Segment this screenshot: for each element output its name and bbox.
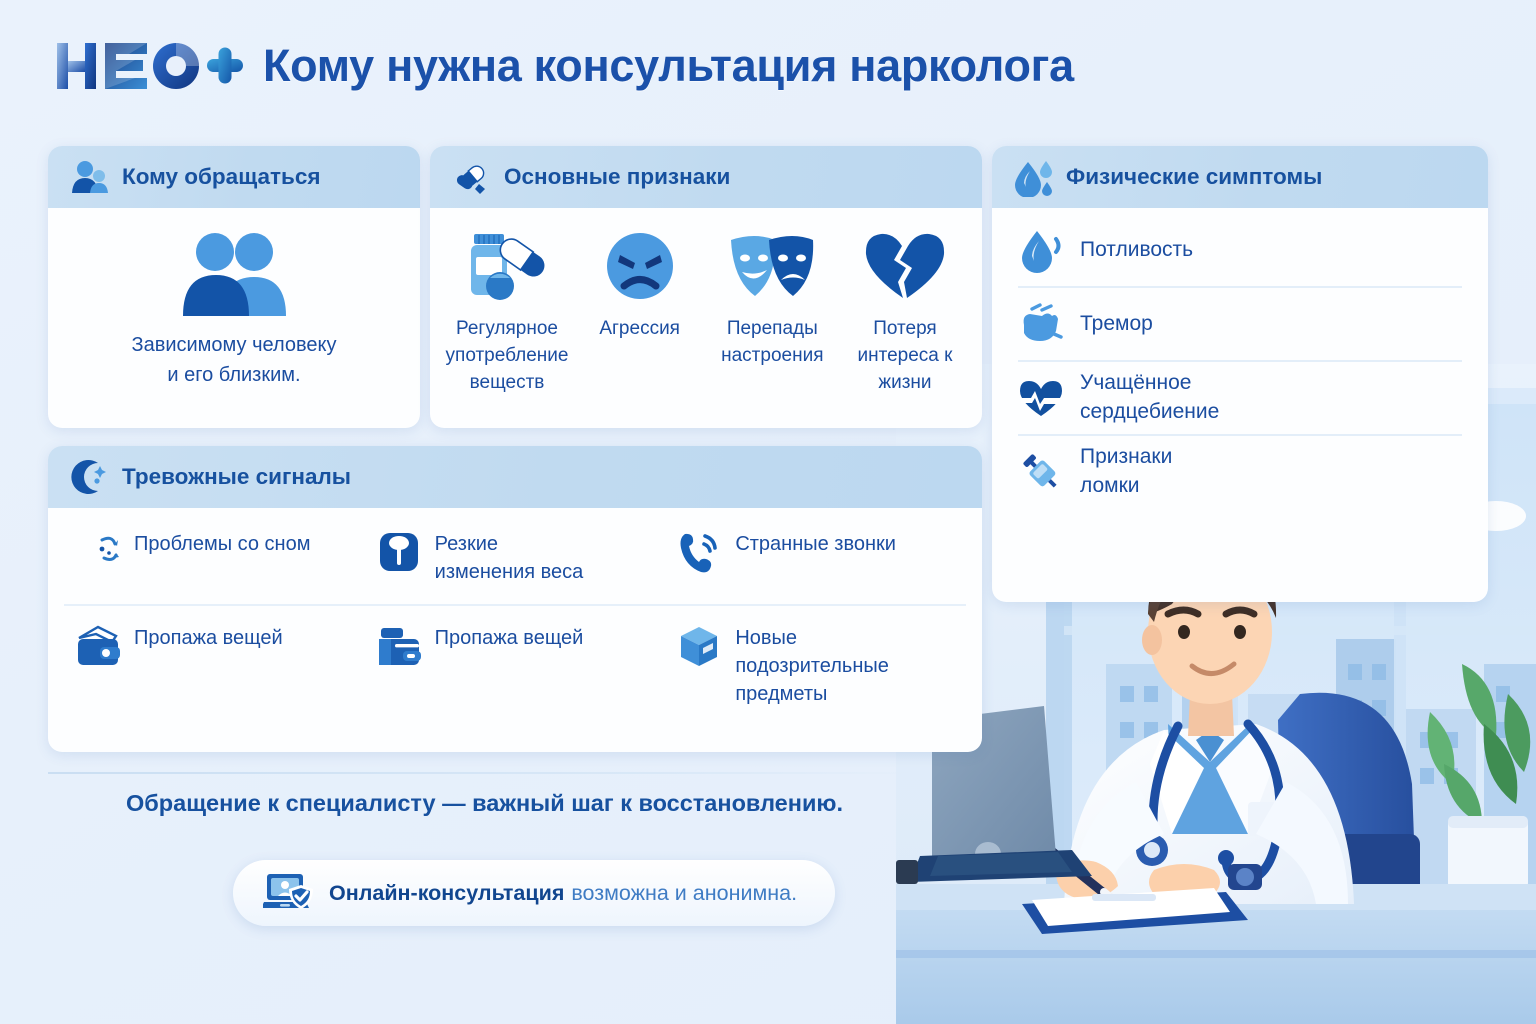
card-who-title: Кому обращаться xyxy=(122,164,320,190)
alert-label: Странные звонки xyxy=(735,526,896,558)
wallet-closed-icon xyxy=(375,622,423,670)
header: Кому нужна консультация нарколога xyxy=(0,0,1536,132)
footer-note: Обращение к специалисту — важный шаг к в… xyxy=(126,790,843,817)
pill-bottle-icon xyxy=(460,226,554,306)
two-people-icon xyxy=(70,157,110,197)
card-phys-body: Потливость Тремор Учащённоесердцебиение xyxy=(992,208,1488,508)
alert-label: Пропажа вещей xyxy=(134,620,283,652)
syringe-icon xyxy=(1018,449,1064,495)
alert-item: Пропажа вещей xyxy=(365,606,666,718)
heart-pulse-icon xyxy=(1018,375,1064,421)
card-signs-title: Основные признаки xyxy=(504,164,730,190)
footer-divider xyxy=(48,772,914,774)
alert-label: Проблемы со сном xyxy=(134,526,310,558)
card-alerts-body: Проблемы со сном Резкиеизменения веса Ст… xyxy=(48,508,982,718)
alert-label: Резкиеизменения веса xyxy=(435,526,584,586)
list-item-label: Учащённоесердцебиение xyxy=(1080,369,1219,427)
sign-label: Перепады настроения xyxy=(711,316,833,370)
card-signs-body: Регулярное употребление веществ Агрессия xyxy=(430,208,982,397)
pill-text-bold: Онлайн-консультация xyxy=(329,881,564,906)
wallet-open-icon xyxy=(74,622,122,670)
alert-item: Проблемы со сном xyxy=(64,512,365,606)
alert-item: Пропажа вещей xyxy=(64,606,365,718)
list-item: Учащённоесердцебиение xyxy=(1018,362,1462,436)
two-people-large-icon xyxy=(175,230,293,316)
alert-item: Новыеподозрительныепредметы xyxy=(665,606,966,718)
card-who-text-line1: Зависимому человеку xyxy=(132,334,337,356)
sign-item: Перепады настроения xyxy=(711,226,833,397)
broken-heart-icon xyxy=(858,226,952,306)
pill-text-regular: возможна и анонимна. xyxy=(571,881,797,906)
sign-item: Агрессия xyxy=(579,226,701,397)
sign-item: Регулярное употребление веществ xyxy=(446,226,568,397)
card-who-text: Зависимому человеку и его близким. xyxy=(132,330,337,390)
sign-item: Потеря интереса к жизни xyxy=(844,226,966,397)
neo-plus-logo xyxy=(55,35,245,97)
card-who-header: Кому обращаться xyxy=(48,146,420,208)
theatre-masks-icon xyxy=(725,226,819,306)
sign-label: Потеря интереса к жизни xyxy=(844,316,966,397)
card-who-to-contact: Кому обращаться Зависимому человеку и ег… xyxy=(48,146,420,428)
alert-item: Резкиеизменения веса xyxy=(365,512,666,606)
list-item: Тремор xyxy=(1018,288,1462,362)
card-main-signs: Основные признаки Регулярное употреблени… xyxy=(430,146,982,428)
card-alert-signals: Тревожные сигналы Проблемы со сном Резки… xyxy=(48,446,982,752)
alert-item: Странные звонки xyxy=(665,512,966,606)
card-phys-header: Физические симптомы xyxy=(992,146,1488,208)
card-who-body: Зависимому человеку и его близким. xyxy=(48,208,420,390)
laptop-verified-icon xyxy=(263,871,315,915)
list-item-label: Признакиломки xyxy=(1080,443,1172,501)
weight-scale-icon xyxy=(375,528,423,576)
online-consultation-badge[interactable]: Онлайн-консультация возможна и анонимна. xyxy=(233,860,835,926)
card-phys-title: Физические симптомы xyxy=(1066,164,1322,190)
list-item-label: Тремор xyxy=(1080,310,1153,339)
moon-sleep-icon xyxy=(74,528,122,576)
card-alerts-header: Тревожные сигналы xyxy=(48,446,982,508)
list-item: Признакиломки xyxy=(1018,436,1462,508)
water-drops-icon xyxy=(1014,157,1054,197)
sign-label: Агрессия xyxy=(599,316,680,343)
alert-label: Пропажа вещей xyxy=(435,620,584,652)
phone-call-icon xyxy=(675,528,723,576)
card-who-text-line2: и его близким. xyxy=(167,364,300,386)
alert-label: Новыеподозрительныепредметы xyxy=(735,620,889,708)
list-item-label: Потливость xyxy=(1080,236,1193,265)
list-item: Потливость xyxy=(1018,214,1462,288)
trembling-hand-icon xyxy=(1018,301,1064,347)
drop-icon xyxy=(1018,227,1064,273)
page-title: Кому нужна консультация нарколога xyxy=(263,40,1074,92)
angry-face-icon xyxy=(593,226,687,306)
card-alerts-title: Тревожные сигналы xyxy=(122,464,351,490)
card-signs-header: Основные признаки xyxy=(430,146,982,208)
card-physical-symptoms: Физические симптомы Потливость Тремор xyxy=(992,146,1488,602)
moon-stars-icon xyxy=(70,457,110,497)
package-box-icon xyxy=(675,622,723,670)
pills-icon xyxy=(452,157,492,197)
sign-label: Регулярное употребление веществ xyxy=(446,316,569,397)
